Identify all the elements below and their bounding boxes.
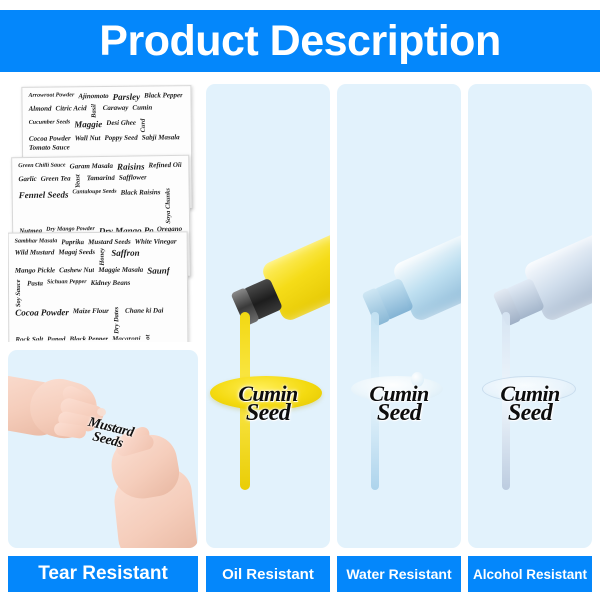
label-word: Kidney Beans bbox=[91, 278, 131, 306]
label-word: Wild Mustard bbox=[15, 248, 55, 266]
oil-illustration: Cumin Seed bbox=[206, 84, 330, 548]
sticker-line-2: Seed bbox=[468, 403, 592, 424]
label-word-vertical: Soya Chunks bbox=[164, 188, 173, 224]
label-word: Citric Acid bbox=[55, 104, 86, 118]
caption-oil-resistant: Oil Resistant bbox=[206, 556, 330, 592]
label-word: Cashew Nut bbox=[59, 266, 94, 277]
label-word: Rock Salt bbox=[15, 336, 43, 341]
label-word-vertical: Soy Sauce bbox=[15, 279, 23, 307]
label-word: White Vinegar bbox=[135, 237, 177, 246]
label-word: Caraway bbox=[103, 104, 129, 118]
label-word: Chane ki Dal bbox=[125, 307, 164, 334]
label-word: Maize Flour bbox=[73, 307, 109, 334]
label-word: Cumin bbox=[132, 104, 152, 118]
panel-label-sheets: Arrowroot PowderAjinomotoParsleyBlack Pe… bbox=[8, 84, 198, 342]
label-word: Saunf bbox=[147, 266, 170, 277]
label-word-vertical: Yeast bbox=[75, 175, 83, 189]
caption-tear-resistant: Tear Resistant bbox=[8, 556, 198, 592]
panel-oil-demo: Cumin Seed bbox=[206, 84, 330, 548]
label-word: Almond bbox=[29, 105, 52, 119]
label-word: Mango Pickle bbox=[15, 267, 55, 279]
label-word: Fennel Seeds bbox=[19, 189, 69, 225]
label-word: Arrowroot Powder bbox=[28, 92, 74, 104]
label-word: Black Pepper bbox=[144, 91, 183, 103]
label-word-vertical: Curd bbox=[140, 119, 148, 133]
label-word-vertical: Dry Dates bbox=[113, 307, 121, 334]
label-word: Tomato Sauce bbox=[29, 144, 70, 153]
label-word: Cantaloupe Seeds bbox=[72, 189, 117, 225]
panel-tear-demo: Mustard Seeds bbox=[8, 350, 198, 548]
label-word: Macaroni bbox=[112, 335, 141, 341]
label-word: Garam Masala bbox=[70, 162, 114, 174]
label-word-vertical: Basil bbox=[91, 104, 99, 118]
sticker-line-2: Seed bbox=[337, 403, 461, 424]
label-word: Ajinomoto bbox=[78, 92, 108, 104]
label-word: Cucumber Seeds bbox=[29, 119, 71, 133]
water-stream bbox=[371, 312, 379, 490]
caption-alcohol-resistant: Alcohol Resistant bbox=[468, 556, 592, 592]
label-word: Paprika bbox=[61, 238, 84, 247]
water-illustration: Cumin Seed bbox=[337, 84, 461, 548]
label-word: Garlic bbox=[18, 175, 36, 189]
label-word: Pasta bbox=[27, 279, 43, 307]
label-word-vertical: Honey bbox=[99, 248, 107, 266]
water-puddle bbox=[351, 376, 443, 402]
label-word: Magaj Seeds bbox=[58, 248, 95, 266]
label-word-vertical: Arrowroot bbox=[145, 335, 153, 341]
label-word: Mustard Seeds bbox=[88, 238, 131, 247]
label-word: Tamarind bbox=[87, 174, 115, 188]
label-word: Sichuan Pepper bbox=[47, 279, 87, 307]
water-droplet bbox=[411, 372, 424, 387]
alcohol-puddle bbox=[482, 376, 576, 402]
page-title: Product Description bbox=[99, 20, 500, 63]
label-word: Safflower bbox=[119, 174, 147, 188]
label-word: Wall Nut bbox=[75, 134, 101, 143]
hands-illustration: Mustard Seeds bbox=[8, 350, 198, 548]
label-word: Parsley bbox=[113, 92, 141, 104]
label-word: Black Raisins bbox=[121, 188, 161, 224]
label-sheet-front: Sambhar MasalaPaprikaMustard SeedsWhite … bbox=[8, 231, 188, 342]
label-word: Cocoa Powder bbox=[15, 308, 69, 335]
product-description-image: Product Description Arrowroot PowderAjin… bbox=[0, 0, 600, 600]
alcohol-stream bbox=[502, 312, 510, 490]
mustard-seeds-sticker: Mustard Seeds bbox=[76, 408, 142, 463]
panel-alcohol-demo: Cumin Seed bbox=[468, 84, 592, 548]
label-word: Sabji Masala bbox=[142, 133, 180, 142]
label-word: Papad bbox=[47, 335, 65, 340]
label-word: Maggie bbox=[74, 119, 102, 133]
label-word: Saffron bbox=[111, 247, 139, 265]
panel-water-demo: Cumin Seed bbox=[337, 84, 461, 548]
label-word: Maggie Masala bbox=[98, 266, 143, 278]
label-sheet-front-words: Sambhar MasalaPaprikaMustard SeedsWhite … bbox=[12, 235, 185, 340]
label-word: Raisins bbox=[117, 161, 145, 173]
label-word: Black Pepper bbox=[69, 335, 108, 340]
label-word: Cocoa Powder bbox=[29, 134, 71, 143]
label-word: Green Tea bbox=[41, 175, 71, 189]
label-word: Desi Ghee bbox=[106, 119, 136, 133]
label-word: Sambhar Masala bbox=[15, 238, 58, 247]
label-word: Green Chilli Sauce bbox=[18, 162, 65, 174]
caption-water-resistant: Water Resistant bbox=[337, 556, 461, 592]
alcohol-illustration: Cumin Seed bbox=[468, 84, 592, 548]
oil-puddle bbox=[210, 376, 322, 410]
header-banner: Product Description bbox=[0, 10, 600, 72]
label-word: Refined Oil bbox=[148, 161, 181, 173]
label-word: Poppy Seed bbox=[104, 133, 137, 142]
